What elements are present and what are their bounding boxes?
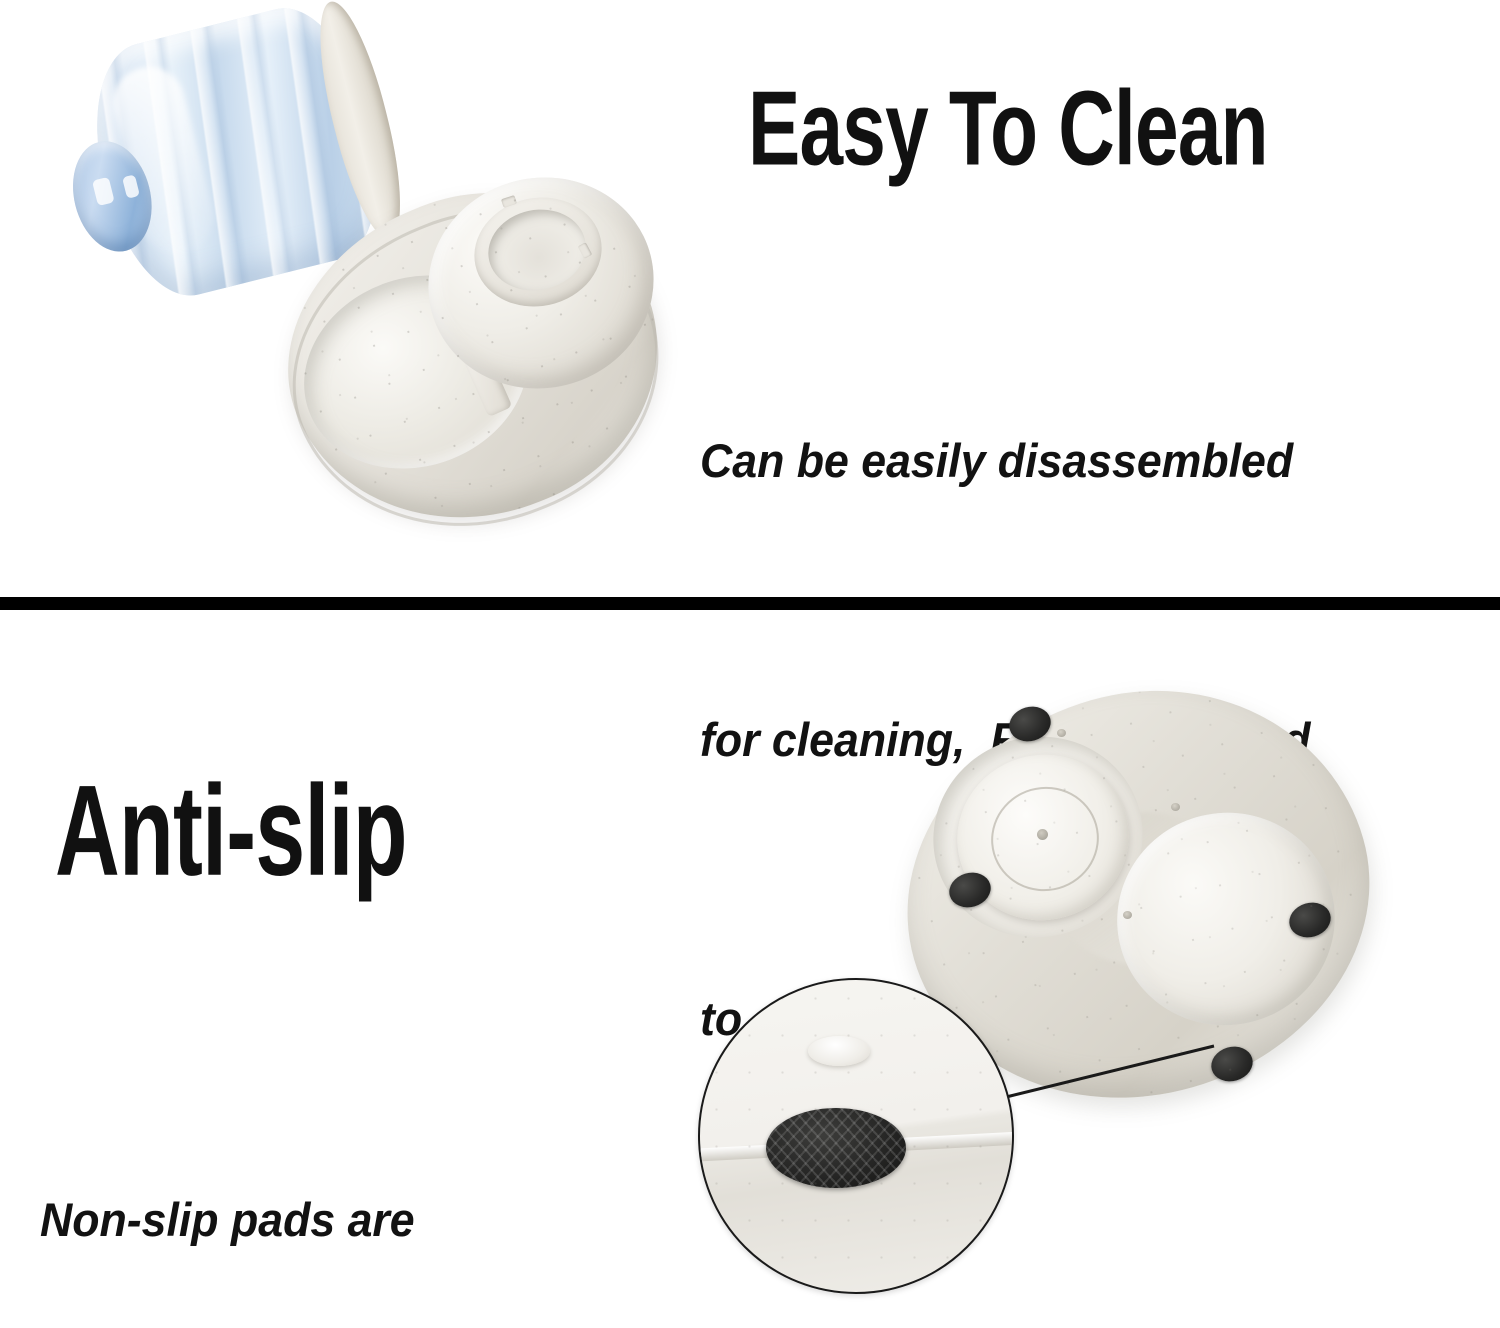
bowl-underside-screw: [1171, 803, 1180, 811]
description-line: Can be easily disassembled: [700, 414, 1310, 507]
double-pet-bowl-photo: [288, 170, 658, 530]
bowl-underside-screw: [1057, 729, 1066, 737]
bowl-underside-center-dot: [1037, 829, 1048, 840]
section-divider: [0, 597, 1500, 610]
bowl-underside-screw: [1123, 911, 1132, 919]
product-infographic: Easy To Clean Can be easily disassembled…: [0, 0, 1500, 1328]
magnifier-speckle-texture: [700, 980, 1012, 1292]
page-title-easy-to-clean: Easy To Clean: [748, 74, 1268, 182]
anti-slip-photo-group: [690, 640, 1500, 1328]
callout-leader-line: [990, 1038, 1218, 1110]
page-title-anti-slip: Anti-slip: [55, 765, 407, 897]
description-line: Non-slip pads are: [40, 1174, 559, 1266]
anti-slip-pad-magnifier: [698, 978, 1014, 1294]
anti-slip-description: Non-slip pads are effective in preventin…: [40, 990, 559, 1328]
easy-to-clean-photo-group: [0, 0, 700, 595]
